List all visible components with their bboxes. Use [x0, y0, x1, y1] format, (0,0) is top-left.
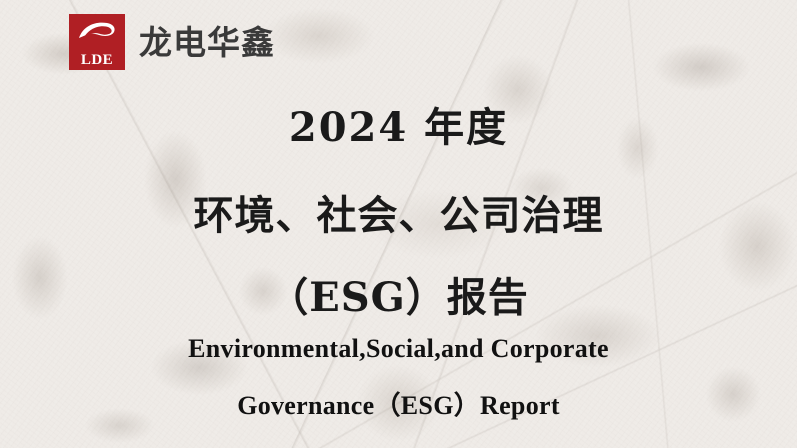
page-title-line-2: 环境、社会、公司治理: [0, 183, 797, 241]
cover-content: LDE 龙电华鑫 2024 年度 环境、社会、公司治理 （ESG）报告 Envi…: [0, 0, 797, 448]
page-title-line-3: （ESG）报告: [0, 265, 797, 323]
page-title-line-1: 2024 年度: [0, 95, 797, 153]
brand-logo: LDE 龙电华鑫: [69, 14, 275, 70]
swoosh-icon: [77, 20, 117, 42]
report-cover-page: LDE 龙电华鑫 2024 年度 环境、社会、公司治理 （ESG）报告 Envi…: [0, 0, 797, 448]
page-subtitle-line-2: Governance（ESG）Report: [0, 385, 797, 422]
page-subtitle-line-1: Environmental,Social,and Corporate: [0, 334, 797, 364]
lde-logo-mark-icon: LDE: [69, 14, 125, 70]
company-name-zh: 龙电华鑫: [139, 26, 275, 59]
lde-wordmark: LDE: [81, 52, 113, 68]
